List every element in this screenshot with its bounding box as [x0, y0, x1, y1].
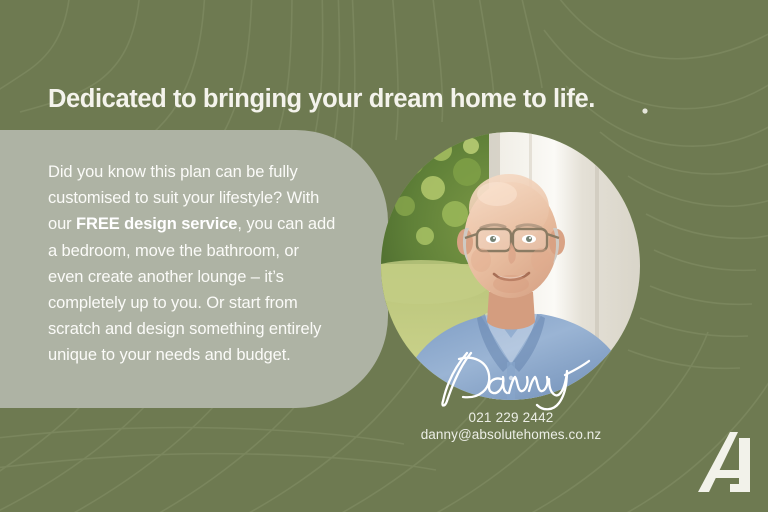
body-copy-emphasis: FREE design service — [76, 215, 237, 233]
absolute-homes-logo[interactable] — [697, 432, 751, 492]
contact-details: 021 229 2442 danny@absolutehomes.co.nz — [390, 409, 632, 443]
page-title: Dedicated to bringing your dream home to… — [48, 84, 688, 114]
promotional-banner: Dedicated to bringing your dream home to… — [0, 0, 768, 512]
contact-email[interactable]: danny@absolutehomes.co.nz — [390, 426, 632, 443]
portrait-photo — [381, 132, 640, 400]
body-copy-part2: , you can add a bedroom, move the bathro… — [48, 215, 335, 364]
body-copy: Did you know this plan can be fully cust… — [48, 159, 338, 369]
contact-phone[interactable]: 021 229 2442 — [390, 409, 632, 426]
